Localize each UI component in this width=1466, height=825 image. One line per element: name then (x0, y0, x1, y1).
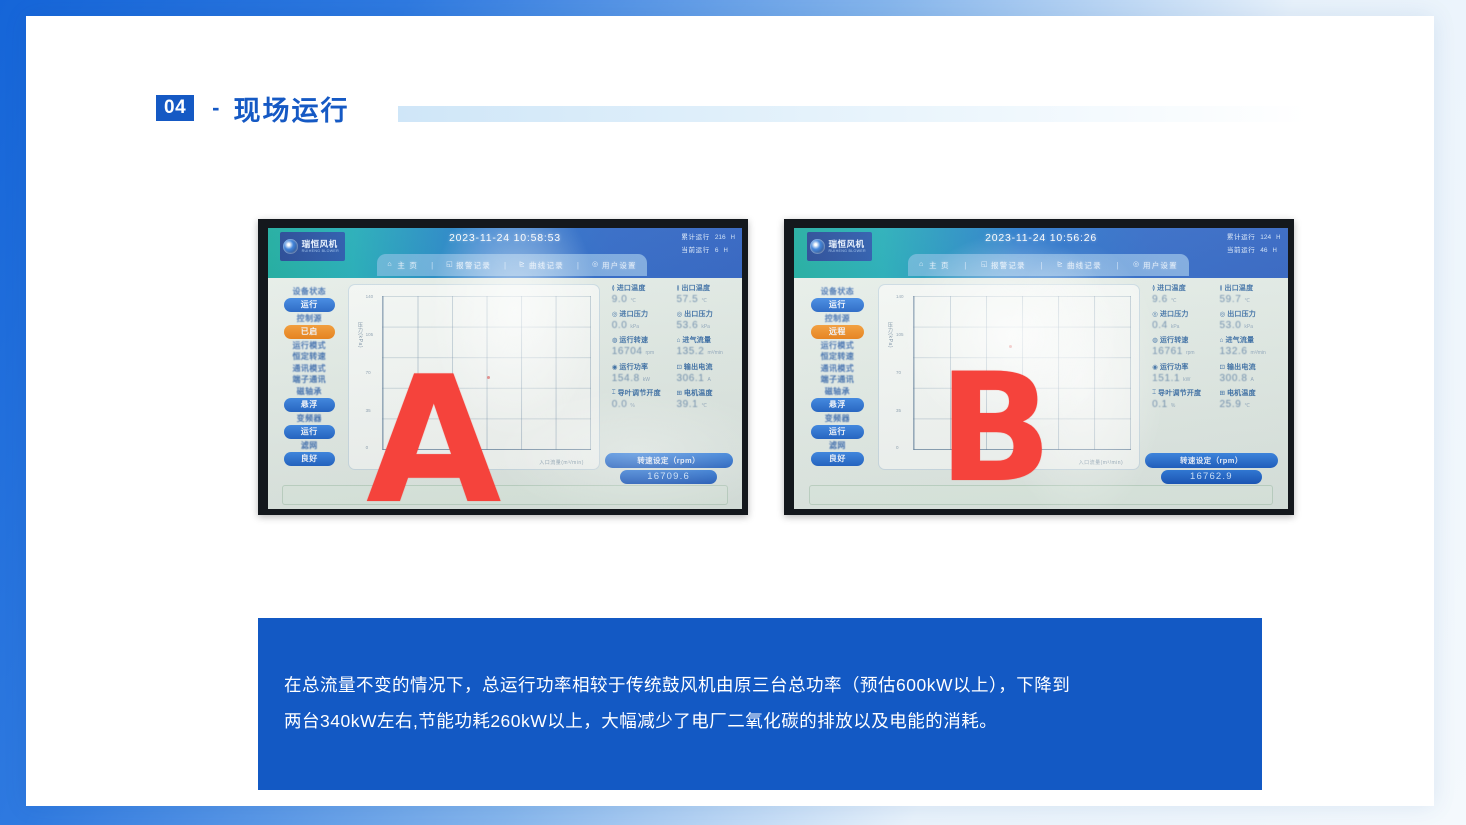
status-caption: 设备状态 (292, 286, 326, 297)
gauge-icon: ◎ (612, 310, 618, 318)
readout-unit: rpm (1186, 350, 1195, 356)
hmi-nav-bar[interactable]: ⌂主 页|◱报警记录|⊵曲线记录|◎用户设置 (908, 254, 1189, 276)
readout-4: ◎出口压力53.0kPa (1220, 309, 1281, 331)
performance-chart[interactable]: 压力(kPa)14010570350入口流量(m³/min) (878, 284, 1140, 470)
readout-unit: ℃ (701, 403, 707, 409)
readout-unit: kPa (1171, 324, 1180, 330)
brand-name-cn: 瑞恒风机 (302, 240, 339, 249)
thermometer-icon: ≬ (1152, 284, 1155, 292)
readout-10: ⊞电机温度25.9℃ (1220, 388, 1281, 410)
status-caption: 控制源 (825, 313, 850, 324)
status-caption: 运行模式 (821, 340, 855, 351)
thermometer-icon: ≬ (1220, 284, 1223, 292)
chart-operating-point (1009, 345, 1012, 348)
readout-label: 进口压力 (619, 309, 648, 319)
hmi-footer-strip (809, 485, 1273, 505)
readout-value: 0.0 (612, 399, 628, 410)
nav-item-2[interactable]: ◱报警记录 (981, 260, 1026, 271)
readout-2: ≬出口温度57.5℃ (676, 283, 735, 305)
status-pill[interactable]: 运行 (811, 425, 864, 439)
nav-separator: | (431, 261, 433, 270)
chart-y-label: 压力(kPa) (357, 322, 364, 348)
readout-unit: kPa (1244, 324, 1253, 330)
nav-item-1[interactable]: ⌂主 页 (387, 260, 418, 271)
hmi-nav-bar[interactable]: ⌂主 页|◱报警记录|⊵曲线记录|◎用户设置 (377, 254, 647, 276)
user-icon: ◎ (592, 261, 600, 269)
page-title: 现场运行 (233, 89, 349, 128)
status-caption: 磁轴承 (825, 386, 850, 397)
nav-item-4[interactable]: ◎用户设置 (1133, 260, 1178, 271)
counter-value: 6 (715, 247, 719, 254)
readout-value: 16704 (612, 346, 643, 357)
valve-icon: ⌶ (612, 389, 616, 397)
readout-value: 16761 (1152, 346, 1183, 357)
chart-y-tick: 35 (366, 408, 374, 413)
readout-value: 25.9 (1220, 399, 1242, 410)
nav-item-label: 曲线记录 (1067, 260, 1102, 271)
readout-value: 306.1 (676, 373, 704, 384)
status-pill[interactable]: 运行 (811, 298, 864, 312)
runtime-counters: 累计运行216H当前运行6H (681, 231, 735, 254)
chart-grid (382, 296, 592, 450)
power-icon: ◉ (1152, 363, 1158, 371)
home-icon: ⌂ (387, 261, 395, 269)
counter-value: 216 (715, 234, 726, 241)
status-pill[interactable]: 运行 (284, 425, 335, 439)
counter-unit: H (731, 235, 735, 241)
readout-unit: ℃ (1244, 298, 1250, 304)
header-dash: - (212, 95, 219, 121)
status-pill[interactable]: 悬浮 (284, 398, 335, 412)
readout-value: 57.5 (676, 294, 698, 305)
nav-item-4[interactable]: ◎用户设置 (592, 260, 637, 271)
readout-unit: m³/min (1251, 350, 1266, 356)
setpoint-value[interactable]: 16762.9 (1161, 470, 1262, 484)
power-icon: ◉ (612, 363, 618, 371)
setpoint-title: 转速设定（rpm） (605, 453, 733, 468)
thermometer-icon: ≬ (676, 284, 679, 292)
chart-y-tick: 140 (896, 294, 904, 299)
readout-6: ⌂进气流量132.6m³/min (1220, 335, 1281, 357)
header-accent-bar (398, 106, 1308, 122)
status-group-1: 设备状态运行 (280, 286, 339, 312)
chart-icon: ⊵ (1057, 261, 1065, 269)
note-line-1: 在总流量不变的情况下，总运行功率相较于传统鼓风机由原三台总功率（预估600kW以… (284, 668, 1236, 704)
nav-item-2[interactable]: ◱报警记录 (446, 260, 491, 271)
speed-setpoint[interactable]: 转速设定（rpm）16709.6 (605, 453, 733, 484)
note-line-2: 两台340kW左右,节能功耗260kW以上，大幅减少了电厂二氧化碳的排放以及电能… (284, 704, 1236, 740)
photo-panel-a: 瑞恒风机RUIHENG BLOWER2023-11-24 10:58:53⌂主 … (258, 219, 748, 515)
readout-label: 出口温度 (1225, 283, 1254, 293)
status-pill[interactable]: 良好 (811, 452, 864, 466)
setpoint-value[interactable]: 16709.6 (620, 470, 717, 484)
chart-y-tick: 105 (896, 332, 904, 337)
readout-unit: ℃ (1244, 403, 1250, 409)
status-rail: 设备状态运行控制源远程运行模式恒定转速通讯模式端子通讯磁轴承悬浮变频器运行滤网良… (807, 286, 869, 466)
counter-value: 124 (1260, 234, 1271, 241)
hmi-top-bar: 瑞恒风机RUIHENG BLOWER2023-11-24 10:58:53⌂主 … (268, 228, 742, 279)
status-group-4: 通讯模式端子通讯 (280, 363, 339, 385)
hmi-screen: 瑞恒风机RUIHENG BLOWER2023-11-24 10:56:26⌂主 … (794, 228, 1288, 509)
counter-unit: H (1273, 248, 1277, 254)
readout-value: 53.0 (1220, 320, 1242, 331)
speed-icon: ◍ (612, 336, 618, 344)
status-group-1: 设备状态运行 (807, 286, 869, 312)
readout-7: ◉运行功率151.1kW (1152, 362, 1213, 384)
status-caption: 磁轴承 (297, 386, 322, 397)
hmi-screen: 瑞恒风机RUIHENG BLOWER2023-11-24 10:58:53⌂主 … (268, 228, 742, 509)
status-caption: 滤网 (829, 440, 846, 451)
counter-row-1: 累计运行216H (681, 231, 735, 241)
readout-unit: A (1251, 377, 1254, 383)
brand-name-cn: 瑞恒风机 (829, 240, 866, 249)
nav-separator: | (1116, 261, 1118, 270)
section-number: 04 (156, 95, 194, 122)
status-group-5: 磁轴承悬浮 (807, 386, 869, 412)
counter-label: 累计运行 (1227, 231, 1255, 241)
runtime-counters: 累计运行124H当前运行46H (1227, 231, 1281, 254)
counter-label: 当前运行 (1227, 244, 1255, 254)
nav-separator: | (504, 261, 506, 270)
chart-y-tick: 35 (896, 408, 904, 413)
nav-item-label: 曲线记录 (529, 260, 564, 271)
readout-label: 进气流量 (682, 335, 711, 345)
readout-6: ⌂进气流量135.2m³/min (676, 335, 735, 357)
counter-label: 当前运行 (681, 244, 709, 254)
status-caption: 通讯模式 (821, 363, 855, 374)
readout-value: 9.0 (612, 294, 628, 305)
brand-name-en: RUIHENG BLOWER (302, 250, 339, 254)
readout-label: 进口温度 (617, 283, 646, 293)
readout-label: 导叶调节开度 (1158, 388, 1201, 398)
nav-item-label: 主 页 (397, 260, 418, 271)
current-icon: ⊡ (676, 363, 681, 371)
counter-row-1: 累计运行124H (1227, 231, 1281, 241)
status-caption: 变频器 (825, 413, 850, 424)
status-value-text: 恒定转速 (292, 351, 326, 362)
readout-unit: A (707, 377, 710, 383)
readout-unit: m³/min (707, 350, 722, 356)
readout-label: 进气流量 (1225, 335, 1254, 345)
readout-label: 出口压力 (684, 309, 713, 319)
readout-2: ≬出口温度59.7℃ (1220, 283, 1281, 305)
readout-unit: ℃ (1171, 298, 1177, 304)
readout-label: 导叶调节开度 (618, 388, 661, 398)
readout-10: ⊞电机温度39.1℃ (676, 388, 735, 410)
chart-y-ticks: 14010570350 (896, 294, 904, 450)
spiral-logo-icon (283, 239, 298, 254)
chart-icon: ⊵ (519, 261, 527, 269)
nav-item-3[interactable]: ⊵曲线记录 (1057, 260, 1102, 271)
nav-item-label: 报警记录 (456, 260, 491, 271)
status-pill[interactable]: 已启 (284, 325, 335, 339)
readout-label: 进口温度 (1157, 283, 1186, 293)
flow-icon: ⌂ (1220, 337, 1224, 344)
nav-separator: | (964, 261, 966, 270)
readout-1: ≬进口温度9.0℃ (612, 283, 671, 305)
chart-y-tick: 70 (896, 370, 904, 375)
hmi-clock: 2023-11-24 10:56:26 (985, 232, 1097, 244)
slide-header: 04 - 现场运行 (156, 88, 349, 128)
status-pill[interactable]: 运行 (284, 298, 335, 312)
current-icon: ⊡ (1220, 363, 1225, 371)
readout-8: ⊡输出电流306.1A (676, 362, 735, 384)
readout-unit: kPa (701, 324, 710, 330)
home-icon: ⌂ (919, 261, 927, 269)
speed-icon: ◍ (1152, 336, 1158, 344)
readout-unit: % (1171, 403, 1175, 409)
status-caption: 控制源 (297, 313, 322, 324)
counter-value: 46 (1260, 247, 1267, 254)
status-group-7: 滤网良好 (807, 440, 869, 466)
measurement-readouts: ≬进口温度9.6℃≬出口温度59.7℃◎进口压力0.4kPa◎出口压力53.0k… (1152, 283, 1280, 393)
chart-y-tick: 0 (366, 445, 374, 450)
photo-panel-b: 瑞恒风机RUIHENG BLOWER2023-11-24 10:56:26⌂主 … (784, 219, 1294, 515)
motor-icon: ⊞ (676, 389, 681, 397)
readout-unit: ℃ (630, 298, 636, 304)
hmi-footer-strip (282, 485, 728, 505)
nav-item-label: 用户设置 (1143, 260, 1178, 271)
readout-value: 9.6 (1152, 294, 1168, 305)
readout-unit: ℃ (701, 298, 707, 304)
status-group-3: 运行模式恒定转速 (807, 340, 869, 362)
readout-value: 135.2 (676, 346, 704, 357)
readout-label: 运行转速 (1160, 335, 1189, 345)
readout-8: ⊡输出电流300.8A (1220, 362, 1281, 384)
status-group-3: 运行模式恒定转速 (280, 340, 339, 362)
readout-9: ⌶导叶调节开度0.1% (1152, 388, 1213, 410)
nav-separator: | (1040, 261, 1042, 270)
readout-label: 电机温度 (1227, 388, 1256, 398)
readout-unit: kPa (630, 324, 639, 330)
readout-unit: kW (643, 377, 650, 383)
chart-x-label: 入口流量(m³/min) (539, 459, 584, 466)
status-value-text: 端子通讯 (292, 374, 326, 385)
chart-x-label: 入口流量(m³/min) (1079, 459, 1124, 466)
status-rail: 设备状态运行控制源已启运行模式恒定转速通讯模式端子通讯磁轴承悬浮变频器运行滤网良… (280, 286, 339, 466)
readout-value: 53.6 (676, 320, 698, 331)
readout-9: ⌶导叶调节开度0.0% (612, 388, 671, 410)
speed-setpoint[interactable]: 转速设定（rpm）16762.9 (1145, 453, 1278, 484)
nav-item-label: 用户设置 (602, 260, 637, 271)
nav-item-1[interactable]: ⌂主 页 (919, 260, 950, 271)
counter-row-2: 当前运行6H (681, 244, 735, 254)
readout-label: 运行转速 (619, 335, 648, 345)
counter-label: 累计运行 (681, 231, 709, 241)
chart-y-ticks: 14010570350 (366, 294, 374, 450)
measurement-readouts: ≬进口温度9.0℃≬出口温度57.5℃◎进口压力0.0kPa◎出口压力53.6k… (612, 283, 735, 393)
gauge-icon: ◎ (676, 310, 682, 318)
nav-item-3[interactable]: ⊵曲线记录 (519, 260, 564, 271)
brand-name-en: RUIHENG BLOWER (829, 250, 866, 254)
status-caption: 变频器 (297, 413, 322, 424)
status-group-5: 磁轴承悬浮 (280, 386, 339, 412)
readout-label: 出口压力 (1227, 309, 1256, 319)
flow-icon: ⌂ (676, 337, 680, 344)
thermometer-icon: ≬ (612, 284, 615, 292)
readout-value: 132.6 (1220, 346, 1248, 357)
status-group-6: 变频器运行 (280, 413, 339, 439)
readout-7: ◉运行功率154.8kW (612, 362, 671, 384)
readout-value: 300.8 (1220, 373, 1248, 384)
status-group-4: 通讯模式端子通讯 (807, 363, 869, 385)
slide-card: 04 - 现场运行 瑞恒风机RUIHENG BLOWER2023-11-24 1… (26, 16, 1434, 806)
status-pill[interactable]: 良好 (284, 452, 335, 466)
readout-label: 输出电流 (684, 362, 713, 372)
alarm-icon: ◱ (981, 261, 989, 269)
readout-value: 151.1 (1152, 373, 1180, 384)
status-caption: 通讯模式 (292, 363, 326, 374)
counter-unit: H (1276, 235, 1280, 241)
status-group-2: 控制源已启 (280, 313, 339, 339)
user-icon: ◎ (1133, 261, 1141, 269)
gauge-icon: ◎ (1220, 310, 1226, 318)
counter-row-2: 当前运行46H (1227, 244, 1281, 254)
chart-y-tick: 70 (366, 370, 374, 375)
readout-value: 0.1 (1152, 399, 1168, 410)
readout-label: 运行功率 (1160, 362, 1189, 372)
readout-label: 输出电流 (1227, 362, 1256, 372)
summary-note: 在总流量不变的情况下，总运行功率相较于传统鼓风机由原三台总功率（预估600kW以… (258, 618, 1262, 790)
readout-value: 0.0 (612, 320, 628, 331)
brand-logo: 瑞恒风机RUIHENG BLOWER (807, 232, 872, 260)
status-group-2: 控制源远程 (807, 313, 869, 339)
readout-1: ≬进口温度9.6℃ (1152, 283, 1213, 305)
status-pill[interactable]: 悬浮 (811, 398, 864, 412)
status-caption: 运行模式 (292, 340, 326, 351)
readout-label: 运行功率 (619, 362, 648, 372)
readout-value: 0.4 (1152, 320, 1168, 331)
readout-label: 电机温度 (684, 388, 713, 398)
hmi-clock: 2023-11-24 10:58:53 (449, 232, 561, 244)
chart-operating-point (487, 376, 490, 379)
nav-item-label: 报警记录 (991, 260, 1026, 271)
readout-unit: % (630, 403, 634, 409)
gauge-icon: ◎ (1152, 310, 1158, 318)
readout-unit: rpm (646, 350, 655, 356)
readout-label: 进口压力 (1160, 309, 1189, 319)
setpoint-title: 转速设定（rpm） (1145, 453, 1278, 468)
readout-3: ◎进口压力0.4kPa (1152, 309, 1213, 331)
nav-separator: | (577, 261, 579, 270)
counter-unit: H (723, 248, 727, 254)
chart-y-tick: 105 (366, 332, 374, 337)
status-value-text: 端子通讯 (821, 374, 855, 385)
chart-y-tick: 0 (896, 445, 904, 450)
readout-5: ◍运行转速16761rpm (1152, 335, 1213, 357)
chart-y-tick: 140 (366, 294, 374, 299)
hmi-top-bar: 瑞恒风机RUIHENG BLOWER2023-11-24 10:56:26⌂主 … (794, 228, 1288, 279)
nav-item-label: 主 页 (929, 260, 950, 271)
readout-3: ◎进口压力0.0kPa (612, 309, 671, 331)
readout-value: 39.1 (676, 399, 698, 410)
status-caption: 设备状态 (821, 286, 855, 297)
readout-5: ◍运行转速16704rpm (612, 335, 671, 357)
brand-logo: 瑞恒风机RUIHENG BLOWER (280, 232, 345, 260)
status-group-7: 滤网良好 (280, 440, 339, 466)
motor-icon: ⊞ (1220, 389, 1225, 397)
status-group-6: 变频器运行 (807, 413, 869, 439)
readout-unit: kW (1183, 377, 1190, 383)
readout-4: ◎出口压力53.6kPa (676, 309, 735, 331)
status-value-text: 恒定转速 (821, 351, 855, 362)
status-caption: 滤网 (301, 440, 318, 451)
spiral-logo-icon (810, 239, 825, 254)
alarm-icon: ◱ (446, 261, 454, 269)
readout-value: 59.7 (1220, 294, 1242, 305)
readout-label: 出口温度 (681, 283, 710, 293)
performance-chart[interactable]: 压力(kPa)14010570350入口流量(m³/min) (348, 284, 599, 470)
readout-value: 154.8 (612, 373, 640, 384)
valve-icon: ⌶ (1152, 389, 1156, 397)
status-pill[interactable]: 远程 (811, 325, 864, 339)
chart-grid (913, 296, 1131, 450)
chart-y-label: 压力(kPa) (887, 322, 894, 348)
